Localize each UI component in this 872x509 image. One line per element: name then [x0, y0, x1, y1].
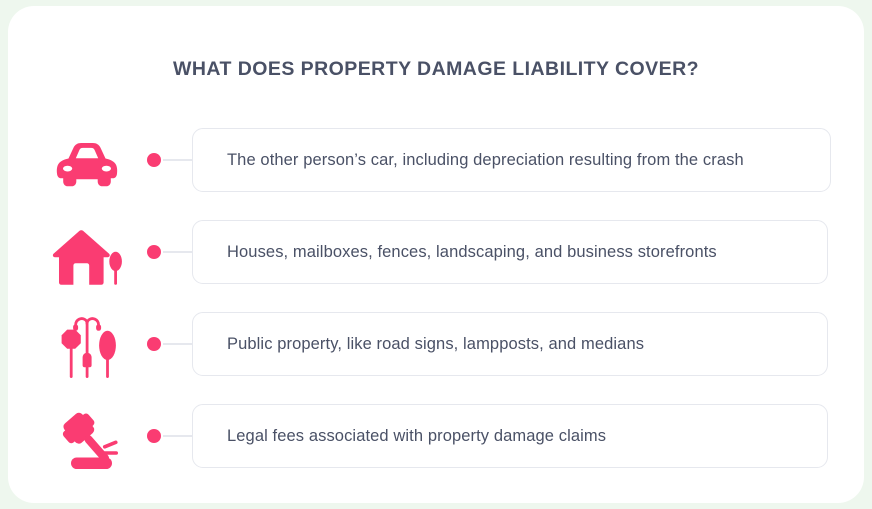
- connector-line: [163, 343, 193, 345]
- list-item: Legal fees associated with property dama…: [8, 400, 864, 492]
- coverage-list: The other person’s car, including deprec…: [8, 124, 864, 492]
- connector-line: [163, 159, 193, 161]
- connector-line: [163, 435, 193, 437]
- coverage-card: The other person’s car, including deprec…: [192, 128, 831, 192]
- coverage-card: Public property, like road signs, lamppo…: [192, 312, 828, 376]
- infographic-card: WHAT DOES PROPERTY DAMAGE LIABILITY COVE…: [8, 6, 864, 503]
- road-sign-lamppost-icon: [44, 308, 130, 390]
- list-item: The other person’s car, including deprec…: [8, 124, 864, 216]
- gavel-icon: [44, 400, 130, 482]
- coverage-card: Legal fees associated with property dama…: [192, 404, 828, 468]
- list-item: Public property, like road signs, lamppo…: [8, 308, 864, 400]
- page-title: WHAT DOES PROPERTY DAMAGE LIABILITY COVE…: [8, 58, 864, 81]
- coverage-text: Legal fees associated with property dama…: [193, 427, 626, 446]
- coverage-card: Houses, mailboxes, fences, landscaping, …: [192, 220, 828, 284]
- coverage-text: The other person’s car, including deprec…: [193, 151, 764, 170]
- connector-line: [163, 251, 193, 253]
- coverage-text: Public property, like road signs, lamppo…: [193, 335, 664, 354]
- connector-dot: [147, 337, 161, 351]
- list-item: Houses, mailboxes, fences, landscaping, …: [8, 216, 864, 308]
- house-icon: [44, 216, 130, 298]
- connector-dot: [147, 245, 161, 259]
- car-icon: [44, 124, 130, 206]
- connector-dot: [147, 153, 161, 167]
- coverage-text: Houses, mailboxes, fences, landscaping, …: [193, 243, 737, 262]
- connector-dot: [147, 429, 161, 443]
